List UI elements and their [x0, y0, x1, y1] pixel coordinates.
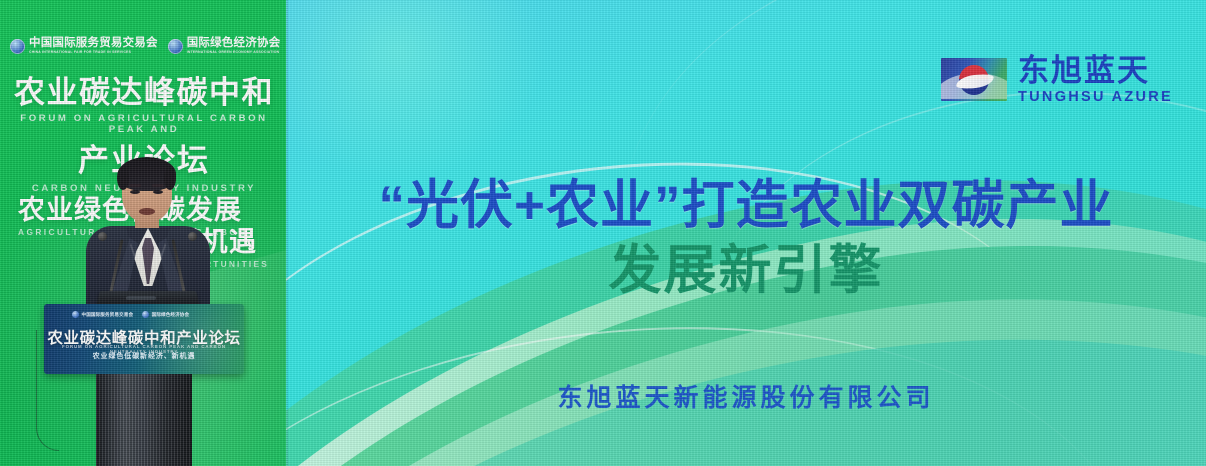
microphone-head-icon [98, 232, 107, 241]
sponsor-name-en: INTERNATIONAL GREEN ECONOMY ASSOCIATION [187, 51, 281, 54]
headline-line-2: 发展新引擎 [286, 240, 1206, 301]
speaker-hair-side-right [164, 166, 176, 190]
sponsor-logo-igea: 国际绿色经济协会 INTERNATIONAL GREEN ECONOMY ASS… [168, 38, 281, 55]
sponsor-name-cn: 国际绿色经济协会 [187, 38, 281, 50]
speaker-eye-left [130, 190, 140, 194]
backdrop-title-line1-cn: 农业碳达峰碳中和 [8, 76, 280, 109]
stage-photo: 中国国际服务贸易交易会 CHINA INTERNATIONAL FAIR FOR… [0, 0, 288, 466]
igea-emblem-icon [142, 311, 149, 318]
podium-subtitle: 农业绿色低碳新经济、新机遇 [44, 351, 244, 361]
igea-emblem-icon [168, 39, 183, 54]
speaker-eyebrow-right [152, 184, 164, 187]
podium-sponsor-name: 国际绿色经济协会 [152, 312, 190, 318]
sponsor-name-en: CHINA INTERNATIONAL FAIR FOR TRADE IN SE… [29, 51, 158, 54]
podium-sponsor-logo-ciftis: 中国国际服务贸易交易会 [72, 311, 133, 318]
brand-logo-lockup: 东旭蓝天 TUNGHSU AZURE [941, 55, 1173, 105]
backdrop-title-line1-en: FORUM ON AGRICULTURAL CARBON PEAK AND [8, 113, 280, 135]
brand-name-cn: 东旭蓝天 [1018, 55, 1173, 86]
sponsor-logo-ciftis: 中国国际服务贸易交易会 CHINA INTERNATIONAL FAIR FOR… [10, 38, 158, 55]
podium-sponsor-logo-igea: 国际绿色经济协会 [142, 311, 189, 318]
speaker-mouth [139, 208, 155, 215]
backdrop-sponsor-logos: 中国国际服务贸易交易会 CHINA INTERNATIONAL FAIR FOR… [10, 38, 278, 55]
ciftis-emblem-icon [72, 311, 79, 318]
speaker-hair-side-left [117, 166, 129, 190]
headline-line-1: “光伏+农业”打造农业双碳产业 [286, 178, 1206, 234]
speaker-eyebrow-left [129, 184, 141, 187]
podium: 中国国际服务贸易交易会 国际绿色经济协会 农业碳达峰碳中和产业论坛 FORUM … [44, 304, 244, 466]
presentation-screenshot: 中国国际服务贸易交易会 CHINA INTERNATIONAL FAIR FOR… [0, 0, 1206, 466]
podium-sponsor-logos: 中国国际服务贸易交易会 国际绿色经济协会 [72, 311, 189, 318]
podium-body [96, 374, 192, 466]
microphone-head-icon [188, 232, 197, 241]
slide-strand-2 [286, 287, 1139, 466]
slide-corner-glow [286, 0, 546, 180]
speaker-eye-right [153, 190, 163, 194]
brand-name-en: TUNGHSU AZURE [1018, 90, 1173, 105]
ciftis-emblem-icon [10, 39, 25, 54]
podium-sponsor-name: 中国国际服务贸易交易会 [82, 312, 134, 318]
presentation-slide: 东旭蓝天 TUNGHSU AZURE “光伏+农业”打造农业双碳产业 发展新引擎… [286, 0, 1206, 466]
sponsor-name-cn: 中国国际服务贸易交易会 [29, 38, 158, 50]
slide-headline: “光伏+农业”打造农业双碳产业 发展新引擎 [286, 178, 1206, 302]
tunghsu-azure-logo-icon [941, 58, 1007, 101]
company-name: 东旭蓝天新能源股份有限公司 [286, 378, 1206, 414]
podium-sign: 中国国际服务贸易交易会 国际绿色经济协会 农业碳达峰碳中和产业论坛 FORUM … [44, 304, 244, 374]
laptop-lid [126, 296, 156, 300]
